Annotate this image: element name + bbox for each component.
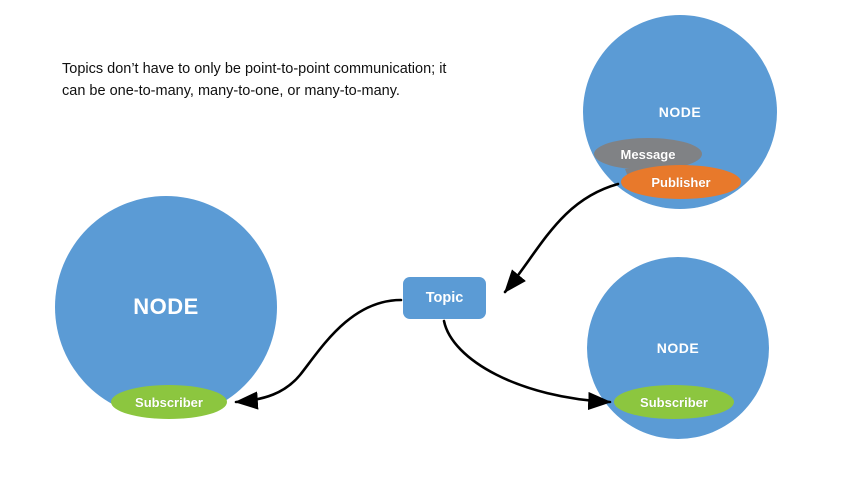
edges-layer (0, 0, 854, 480)
edge-topic-to-subscriber-left (236, 300, 401, 402)
edge-publisher-to-topic (505, 184, 618, 292)
diagram-canvas: Topics don’t have to only be point-to-po… (0, 0, 854, 480)
edge-topic-to-subscriber-bottom-right (444, 321, 610, 402)
